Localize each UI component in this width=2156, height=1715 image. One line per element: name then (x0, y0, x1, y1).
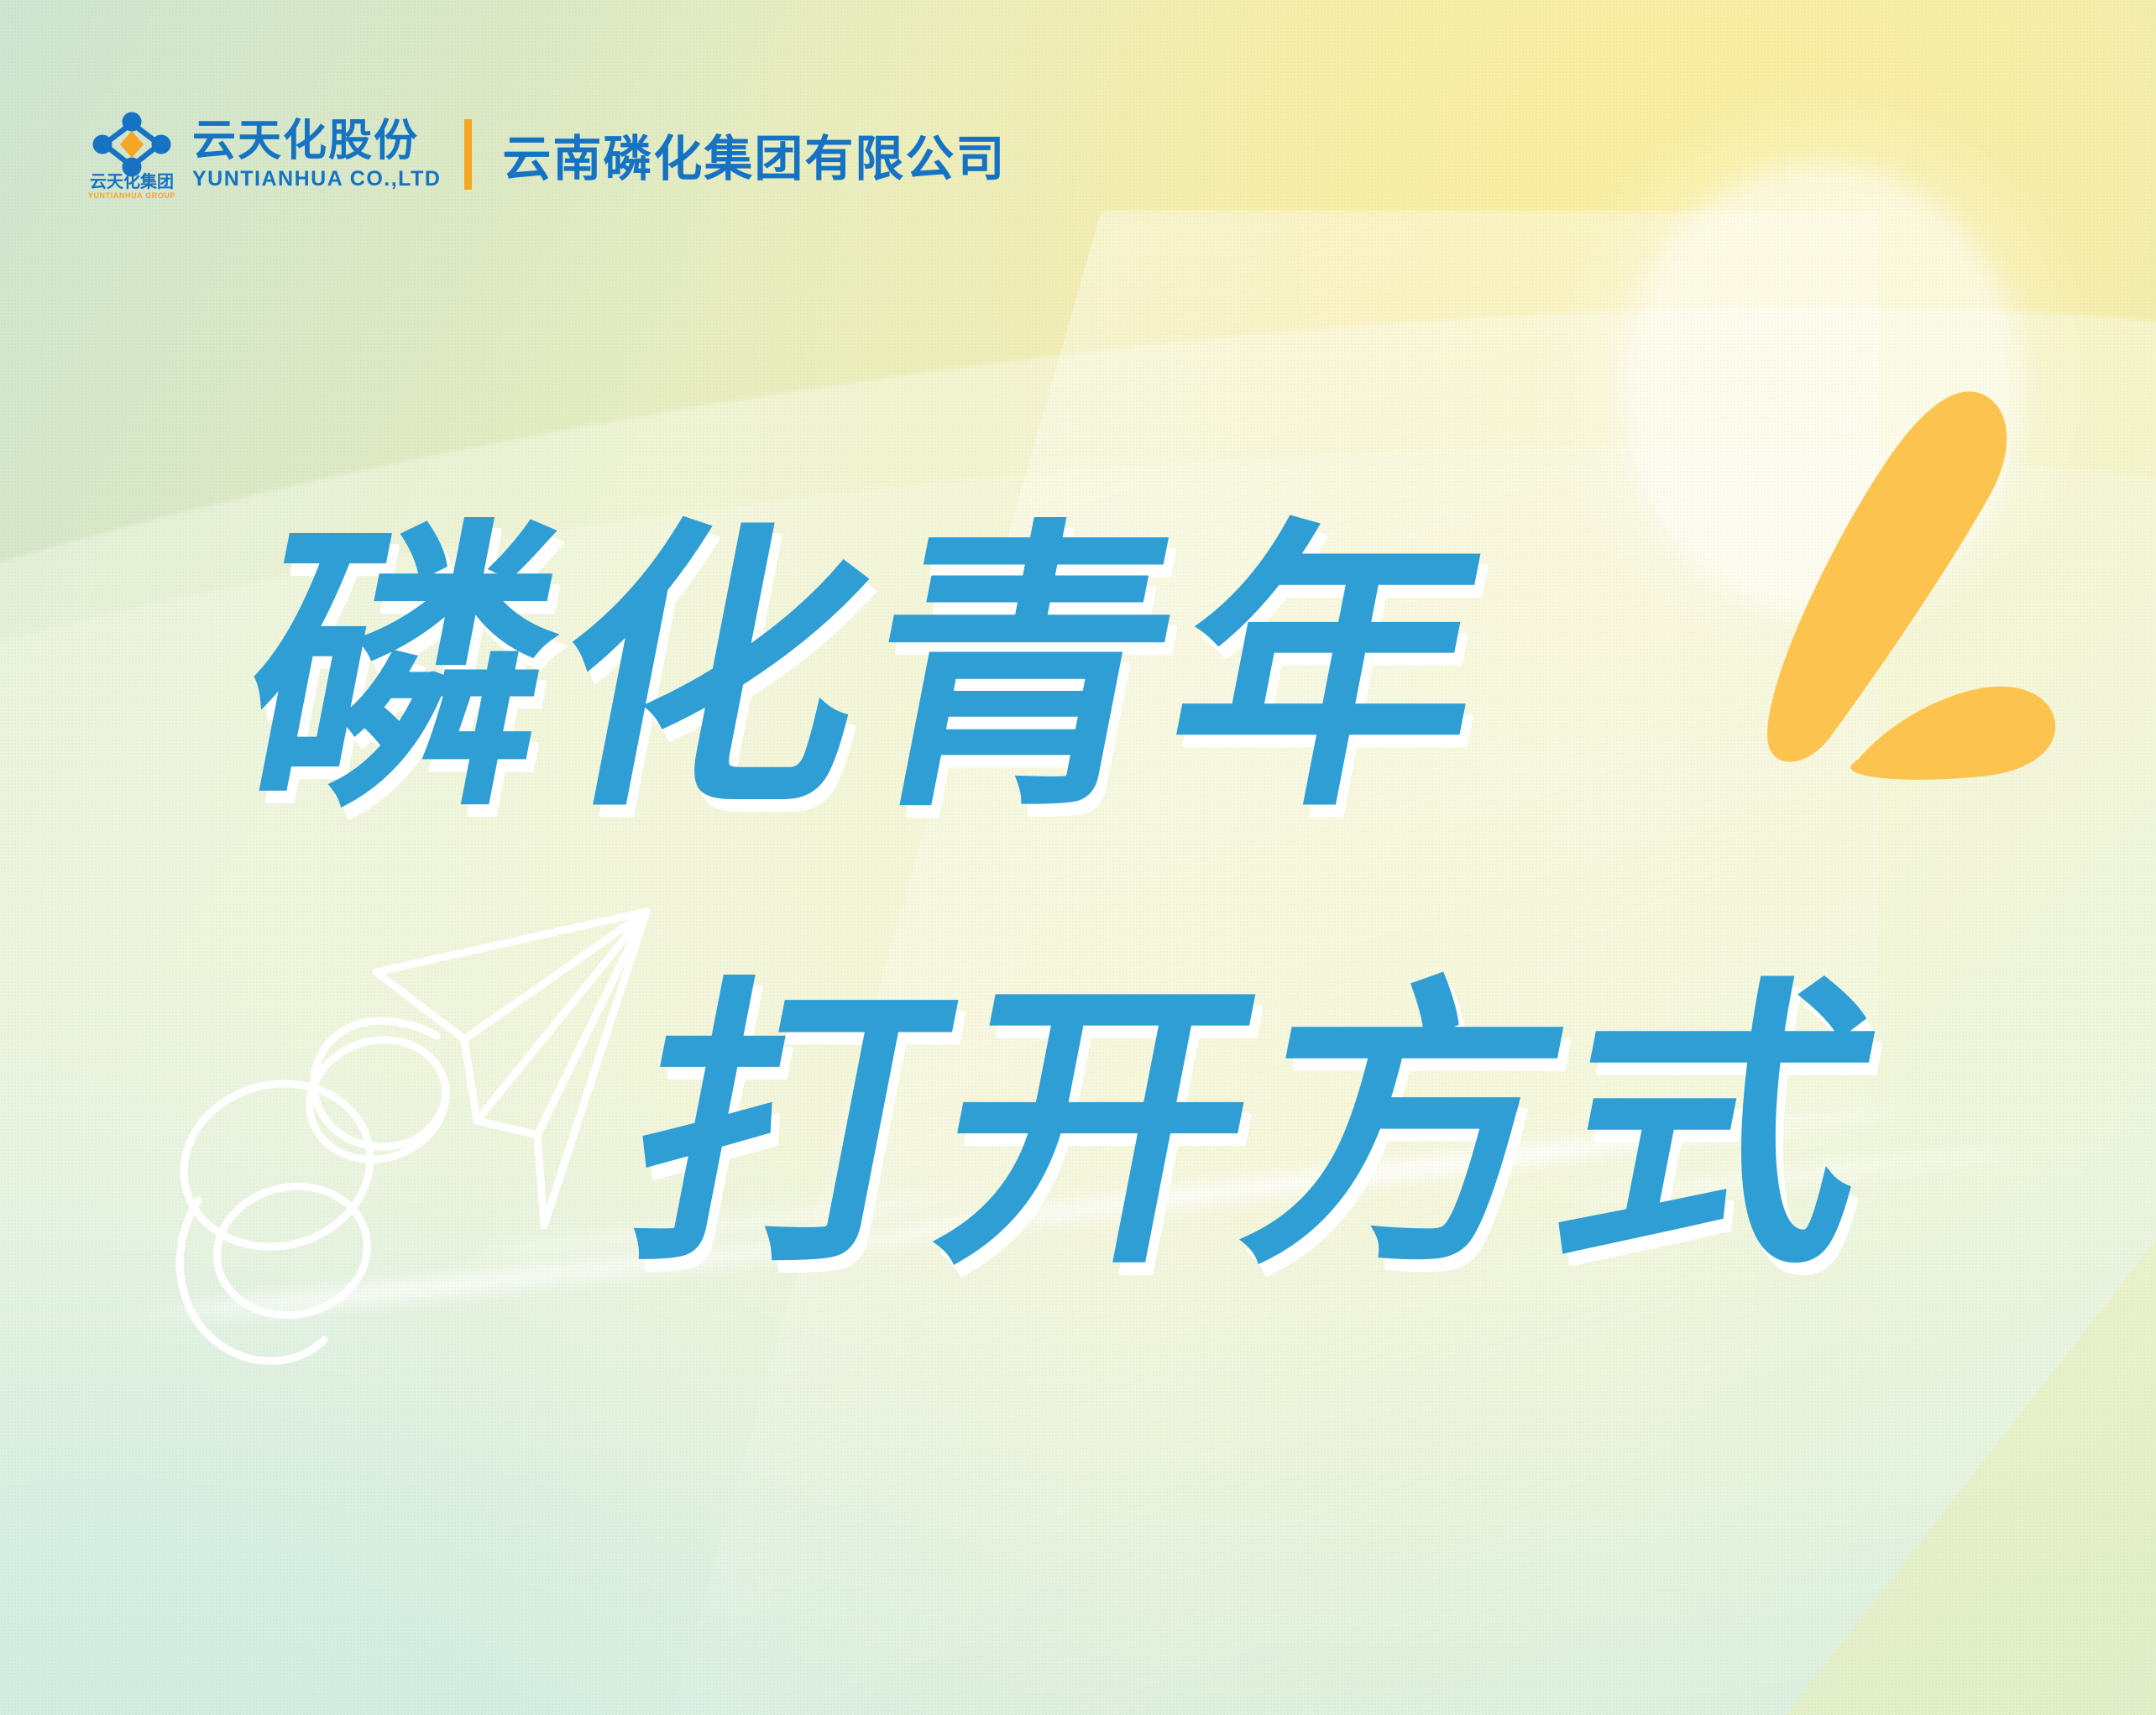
brand-name-cn: 云天化股份 (192, 119, 441, 163)
yuntianhua-diamond-logo-icon: 云天化集团 YUNTIANHUA GROUP (88, 107, 175, 201)
logo-mark-en-label: YUNTIANHUA GROUP (88, 191, 175, 200)
company-name-label: 云南磷化集团有限公司 (502, 119, 1006, 190)
poster-canvas: 云天化集团 YUNTIANHUA GROUP 云天化股份 YUNTIANHUA … (0, 0, 2156, 1715)
brand-divider-icon (464, 119, 472, 190)
title-line-2: 打开方式 (609, 978, 1903, 1280)
main-title-block: 磷化青年 打开方式 (0, 0, 2156, 1715)
brand-name-en: YUNTIANHUA CO.,LTD (192, 169, 441, 190)
header-brand-bar: 云天化集团 YUNTIANHUA GROUP 云天化股份 YUNTIANHUA … (88, 107, 1006, 201)
brand-lockup: 云天化股份 YUNTIANHUA CO.,LTD (192, 119, 441, 190)
logo-mark-cn-label: 云天化集团 (90, 171, 174, 191)
title-line-1: 磷化青年 (222, 520, 1517, 823)
